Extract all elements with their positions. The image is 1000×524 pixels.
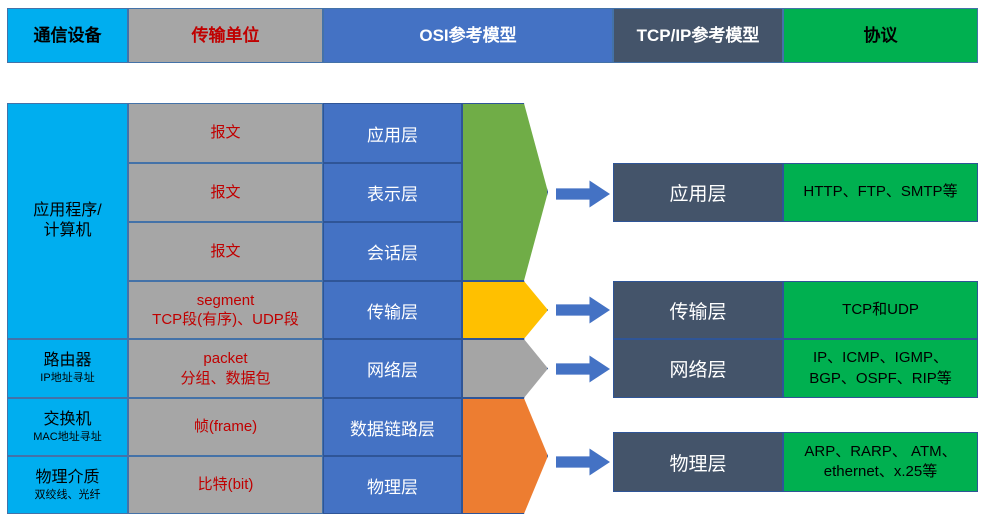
protocol-list: HTTP、FTP、SMTP等: [803, 182, 957, 202]
unit-cell-datalink: 帧(frame): [128, 398, 323, 456]
device-name: 路由器: [43, 351, 91, 371]
tcpip-layer-application: 应用层: [613, 163, 783, 222]
unit-line1: packet: [203, 349, 247, 369]
tcpip-layer-label: 网络层: [669, 355, 726, 382]
device-cell-application-computer: 应用程序/ 计算机: [7, 103, 128, 339]
device-cell-router: 路由器 IP地址寻址: [7, 339, 128, 398]
device-subtitle: IP地址寻址: [40, 372, 94, 386]
tcpip-layer-label: 物理层: [669, 449, 726, 476]
tcpip-layer-physical: 物理层: [613, 432, 783, 492]
tcpip-layer-label: 应用层: [669, 179, 726, 206]
osi-layer-session: 会话层: [323, 222, 462, 281]
device-cell-physical-media: 物理介质 双绞线、光纤: [7, 456, 128, 514]
device-name-line2: 计算机: [43, 221, 91, 241]
unit-line2: TCP段(有序)、UDP段: [152, 310, 299, 330]
protocol-box-application: HTTP、FTP、SMTP等: [783, 163, 978, 222]
header-communication-devices: 通信设备: [7, 8, 128, 63]
protocol-box-transport: TCP和UDP: [783, 281, 978, 339]
header-transmission-unit: 传输单位: [128, 8, 323, 63]
arrow-to-physical-layer-icon: [556, 448, 610, 476]
osi-layer-presentation: 表示层: [323, 163, 462, 222]
header-label: 通信设备: [34, 26, 102, 46]
osi-layer-transport: 传输层: [323, 281, 462, 339]
header-label: TCP/IP参考模型: [637, 26, 760, 46]
osi-layer-label: 传输层: [367, 298, 418, 323]
unit-cell-presentation: 报文: [128, 163, 323, 222]
header-label: 协议: [864, 26, 898, 46]
header-protocols: 协议: [783, 8, 978, 63]
arrow-to-application-layer-icon: [556, 180, 610, 208]
osi-layer-physical: 物理层: [323, 456, 462, 514]
protocol-list-line1: IP、ICMP、IGMP、: [813, 348, 948, 368]
unit-line1: 比特(bit): [198, 475, 254, 495]
unit-line1: 报文: [210, 242, 240, 262]
osi-layer-label: 应用层: [367, 121, 418, 146]
header-osi-reference-model: OSI参考模型: [323, 8, 613, 63]
protocol-box-network: IP、ICMP、IGMP、 BGP、OSPF、RIP等: [783, 339, 978, 398]
device-name: 物理介质: [35, 468, 99, 488]
unit-cell-session: 报文: [128, 222, 323, 281]
osi-layer-network: 网络层: [323, 339, 462, 398]
unit-cell-transport: segment TCP段(有序)、UDP段: [128, 281, 323, 339]
unit-line1: 报文: [210, 123, 240, 143]
unit-cell-network: packet 分组、数据包: [128, 339, 323, 398]
unit-line2: 分组、数据包: [180, 369, 270, 389]
tcpip-layer-network: 网络层: [613, 339, 783, 398]
header-tcpip-reference-model: TCP/IP参考模型: [613, 8, 783, 63]
unit-cell-application: 报文: [128, 103, 323, 163]
osi-layer-label: 表示层: [367, 180, 418, 205]
device-subtitle: MAC地址寻址: [33, 431, 101, 445]
protocol-list-line2: ethernet、x.25等: [824, 462, 937, 482]
device-subtitle: 双绞线、光纤: [35, 489, 101, 503]
application-group-chevron: [462, 103, 548, 281]
protocol-list-line2: BGP、OSPF、RIP等: [809, 369, 952, 389]
arrow-to-network-layer-icon: [556, 355, 610, 383]
protocol-box-physical: ARP、RARP、 ATM、 ethernet、x.25等: [783, 432, 978, 492]
osi-layer-application: 应用层: [323, 103, 462, 163]
protocol-list: TCP和UDP: [842, 300, 919, 320]
osi-layer-datalink: 数据链路层: [323, 398, 462, 456]
osi-layer-label: 会话层: [367, 239, 418, 264]
device-cell-switch: 交换机 MAC地址寻址: [7, 398, 128, 456]
unit-cell-physical: 比特(bit): [128, 456, 323, 514]
header-label: OSI参考模型: [419, 26, 516, 46]
osi-layer-label: 物理层: [367, 473, 418, 498]
unit-line1: 帧(frame): [194, 417, 257, 437]
link-physical-group-chevron: [462, 398, 548, 514]
tcpip-layer-label: 传输层: [669, 297, 726, 324]
transport-group-chevron: [462, 281, 548, 339]
protocol-list-line1: ARP、RARP、 ATM、: [804, 442, 956, 462]
osi-layer-label: 数据链路层: [350, 415, 435, 440]
osi-layer-label: 网络层: [367, 356, 418, 381]
osi-tcpip-comparison-diagram: 通信设备 传输单位 OSI参考模型 TCP/IP参考模型 协议 应用程序/ 计算…: [0, 0, 1000, 524]
network-group-chevron: [462, 339, 548, 398]
tcpip-layer-transport: 传输层: [613, 281, 783, 339]
header-label: 传输单位: [192, 26, 260, 46]
unit-line1: 报文: [210, 183, 240, 203]
device-name: 交换机: [43, 410, 91, 430]
arrow-to-transport-layer-icon: [556, 296, 610, 324]
unit-line1: segment: [197, 291, 255, 311]
device-name-line1: 应用程序/: [33, 201, 101, 221]
